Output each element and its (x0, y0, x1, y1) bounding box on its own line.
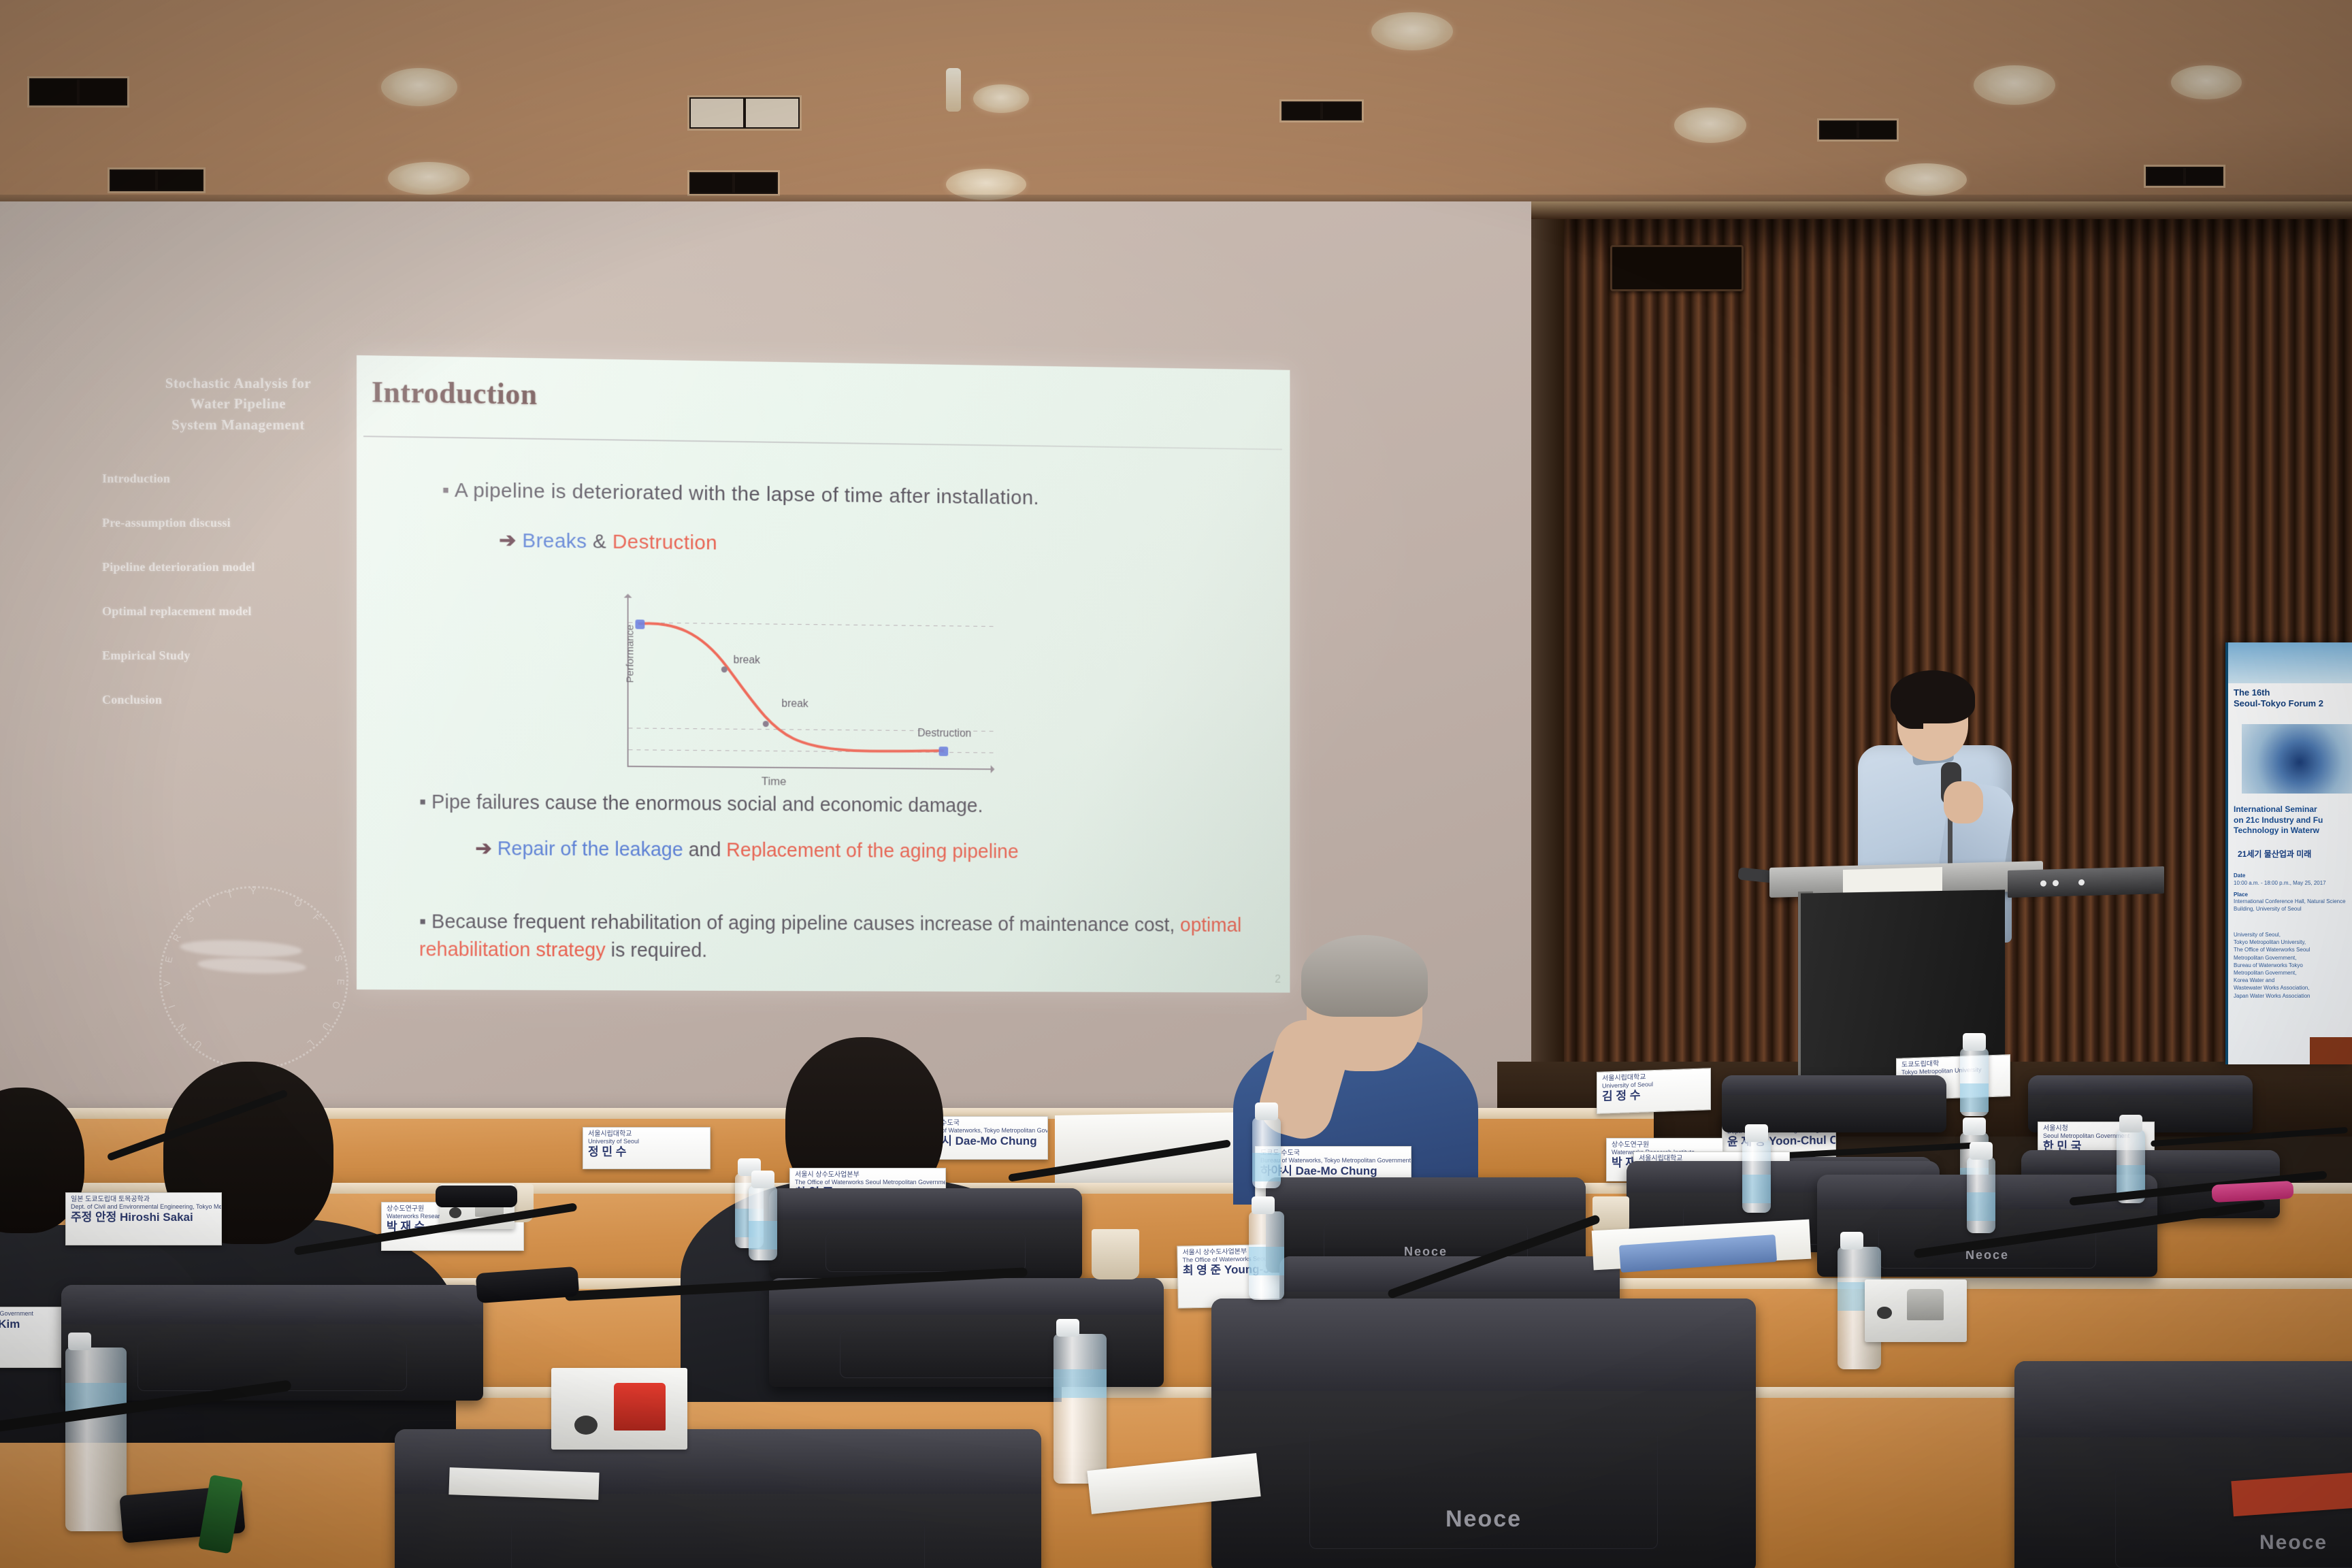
poster-subtitle-line: on 21c Industry and Fu (2234, 815, 2352, 826)
paper-cup[interactable] (1092, 1229, 1139, 1279)
slide-bullet-1: ▪ A pipeline is deteriorated with the la… (442, 479, 1039, 510)
chart-break-marker (763, 721, 769, 727)
nameplate-name: 정 민 수 (588, 1146, 705, 1159)
slide-title: Introduction (372, 374, 538, 412)
table-row: 일본 도쿄도립대 토목공학과 Dept. of Civil and Enviro… (65, 1192, 222, 1245)
slide-bullet-3: ▪ Because frequent rehabilitation of agi… (419, 908, 1267, 967)
university-seal-watermark: UNIVERSITY OF SEOUL (155, 882, 353, 1074)
seal-label: UNIVERSITY OF SEOUL (155, 882, 353, 1074)
chart-annotation-break-1: break (734, 655, 760, 667)
conference-document[interactable] (448, 1467, 599, 1500)
water-bottle[interactable] (1967, 1157, 1995, 1233)
water-bottle[interactable] (1252, 1117, 1281, 1188)
ceiling (0, 0, 2352, 204)
arrow-icon: ➔ (499, 529, 516, 552)
poster-organizers: University of Seoul, Tokyo Metropolitan … (2234, 931, 2352, 1000)
poster-organizer: Tokyo Metropolitan University, (2234, 938, 2352, 946)
arrow-icon: ➔ (475, 838, 491, 860)
sidebar-title-line: Stochastic Analysis for (102, 373, 374, 393)
water-bottle[interactable] (1742, 1139, 1771, 1213)
nameplate-org-kr: 일본 도쿄도립대 토목공학과 (71, 1196, 216, 1204)
subpoint-2-red: Replacement of the aging pipeline (726, 839, 1018, 862)
water-bottle[interactable] (65, 1347, 127, 1531)
chart-break-marker (721, 666, 728, 672)
nameplate-name: 주정 안정 Hiroshi Sakai (71, 1211, 216, 1224)
ceiling-light (388, 162, 470, 195)
subpoint-2-mid: and (689, 839, 721, 861)
ceiling-light (2171, 65, 2242, 99)
deterioration-chart: Performance Time break break Destruction (560, 594, 1015, 787)
poster-sky-graphic (2228, 642, 2352, 683)
slide-subpoint-2: ➔ Repair of the leakage and Replacement … (475, 836, 1018, 864)
ceiling-light (946, 169, 1026, 200)
poster-photo (2242, 724, 2352, 794)
sidebar-item-empirical-study: Empirical Study (102, 649, 374, 663)
nameplate-org-kr: 상수도연구원 (1612, 1142, 1718, 1149)
ceiling-vent-icon (687, 95, 802, 131)
ceiling-light (1974, 65, 2055, 105)
poster-meta: Date 10:00 a.m. - 18:00 p.m., May 25, 20… (2234, 868, 2352, 913)
ceiling-light (1674, 108, 1746, 143)
poster-subtitle: International Seminar on 21c Industry an… (2234, 804, 2352, 836)
poster-organizer: Bureau of Waterworks Tokyo (2234, 962, 2352, 969)
ceiling-light (1371, 12, 1453, 50)
ceiling-vent-icon (1279, 99, 1364, 122)
poster-organizer: Metropolitan Government, (2234, 954, 2352, 962)
table-row: 서울시립대학교 University of Seoul 정 민 수 (583, 1127, 710, 1169)
slide-bullet-2: ▪ Pipe failures cause the enormous socia… (419, 791, 983, 818)
slide-title-rule (363, 436, 1282, 450)
chart-annotation-break-2: break (781, 698, 808, 710)
sidebar-item-replacement-model: Optimal replacement model (102, 604, 374, 619)
chair-front-row[interactable] (769, 1188, 1082, 1279)
sidebar-item-deterioration-model: Pipeline deterioration model (102, 560, 374, 574)
nameplate-org-kr: 도쿄도 수도국 (1260, 1150, 1406, 1158)
nameplate-org-en: Bureau of Waterworks, Tokyo Metropolitan… (1260, 1158, 1406, 1164)
speaker-hair (1891, 670, 1975, 723)
chart-end-marker (939, 747, 949, 756)
sidebar-item-pre-assumption: Pre-assumption discussi (102, 516, 374, 530)
sidebar-title-line: System Management (102, 414, 374, 435)
ceiling-vent-icon (108, 167, 206, 193)
wall-speaker-icon (1610, 245, 1744, 291)
water-bottle[interactable] (1053, 1334, 1107, 1484)
poster-subtitle-line: Technology in Waterw (2234, 826, 2352, 836)
ceiling-light (381, 68, 457, 106)
poster-subtitle-line: International Seminar (2234, 804, 2352, 815)
podium-notes (1843, 867, 1942, 894)
nameplate-name: 김 정 수 (1602, 1087, 1705, 1103)
sidebar-title-line: Water Pipeline (102, 393, 374, 414)
speaker-hand (1944, 781, 1983, 823)
poster-organizer: Korea Water and (2234, 977, 2352, 984)
microphone-base-unit[interactable] (1865, 1279, 1967, 1342)
chair-foreground[interactable]: Neoce (395, 1429, 1041, 1568)
ceiling-sprinkler-icon (946, 68, 961, 112)
poster-organizer: Japan Water Works Association (2234, 992, 2352, 1000)
podium-side-shelf (2008, 866, 2164, 898)
poster-footer-block (2310, 1037, 2352, 1064)
microphone-base-unit[interactable] (551, 1368, 687, 1450)
ceiling-light (1885, 163, 1967, 196)
nameplate-org-en: University of Seoul (588, 1139, 705, 1145)
chart-start-marker (635, 619, 644, 629)
water-bottle[interactable] (1249, 1211, 1284, 1300)
sidebar-item-introduction: Introduction (102, 472, 374, 486)
chair-brand-label: Neoce (2259, 1531, 2327, 1554)
translation-receiver[interactable] (436, 1186, 517, 1207)
slide-subpoint-1: ➔ Breaks & Destruction (499, 529, 717, 555)
bullet-1-text: A pipeline is deteriorated with the laps… (455, 479, 1039, 509)
poster-title-line: The 16th (2234, 687, 2351, 698)
nameplate-org-kr: 서울시 상수도사업본부 (795, 1172, 941, 1179)
ceiling-light (973, 84, 1029, 113)
chair-foreground[interactable]: Neoce (2014, 1361, 2352, 1568)
water-bottle[interactable] (1960, 1048, 1989, 1116)
nameplate-name: 하야시 Dae-Mo Chung (1260, 1165, 1406, 1178)
bullet-3-post: is required. (611, 940, 708, 962)
bullet-marker-icon: ▪ (419, 791, 426, 813)
wall-top-edge (1531, 201, 2352, 219)
nameplate-org-en: The Office of Waterworks Seoul Metropoli… (795, 1179, 941, 1186)
sidebar-title: Stochastic Analysis for Water Pipeline S… (102, 373, 374, 435)
poster-organizer: The Office of Waterworks Seoul (2234, 946, 2352, 953)
poster-organizer: Wastewater Works Association, (2234, 984, 2352, 992)
poster-organizer: Metropolitan Government, (2234, 969, 2352, 977)
projected-slide: Introduction ▪ A pipeline is deteriorate… (357, 355, 1290, 993)
table-row: 서울시립대학교 University of Seoul 김 정 수 (1597, 1068, 1711, 1114)
slide-sidebar: Stochastic Analysis for Water Pipeline S… (102, 373, 374, 737)
ceiling-vent-icon (2144, 165, 2225, 188)
event-poster-banner: The 16th Seoul-Tokyo Forum 2 Internation… (2225, 642, 2352, 1064)
bullet-3-pre: Because frequent rehabilitation of aging… (431, 911, 1175, 936)
poster-korean-title: 21세기 물산업과 미래 (2238, 848, 2311, 860)
ceiling-vent-icon (687, 170, 780, 196)
slide-page-number: 2 (1275, 974, 1281, 986)
subpoint-1-red: Destruction (612, 531, 717, 555)
bullet-marker-icon: ▪ (419, 911, 426, 932)
poster-organizer: University of Seoul, (2234, 931, 2352, 938)
nameplate-org-en: Dept. of Civil and Environmental Enginee… (71, 1204, 216, 1210)
chart-curve (560, 594, 1015, 787)
nameplate-org-kr: 서울시립대학교 (588, 1131, 705, 1139)
conference-room-scene: UNIVERSITY OF SEOUL Stochastic Analysis … (0, 0, 2352, 1568)
chair-foreground[interactable]: Neoce (1211, 1298, 1756, 1568)
ceiling-vent-icon (1817, 118, 1899, 142)
ceiling-vent-icon (27, 76, 129, 108)
poster-date-value: 10:00 a.m. - 18:00 p.m., May 25, 2017 (2234, 880, 2326, 886)
poster-title: The 16th Seoul-Tokyo Forum 2 (2234, 687, 2351, 710)
poster-place-value: International Conference Hall, Natural S… (2234, 898, 2346, 912)
bullet-2-text: Pipe failures cause the enormous social … (431, 791, 983, 817)
subpoint-1-blue: Breaks (522, 529, 587, 553)
subpoint-1-amp: & (593, 530, 606, 553)
bullet-marker-icon: ▪ (442, 479, 450, 502)
poster-place-label: Place (2234, 892, 2352, 899)
chart-annotation-destruction: Destruction (917, 728, 971, 740)
chair-brand-label: Neoce (1445, 1506, 1522, 1533)
podium-area (1742, 667, 2178, 1089)
poster-title-line: Seoul-Tokyo Forum 2 (2234, 698, 2351, 709)
sidebar-item-conclusion: Conclusion (102, 693, 374, 707)
subpoint-2-blue: Repair of the leakage (497, 838, 683, 861)
poster-date-label: Date (2234, 872, 2352, 880)
water-bottle[interactable] (749, 1186, 777, 1260)
